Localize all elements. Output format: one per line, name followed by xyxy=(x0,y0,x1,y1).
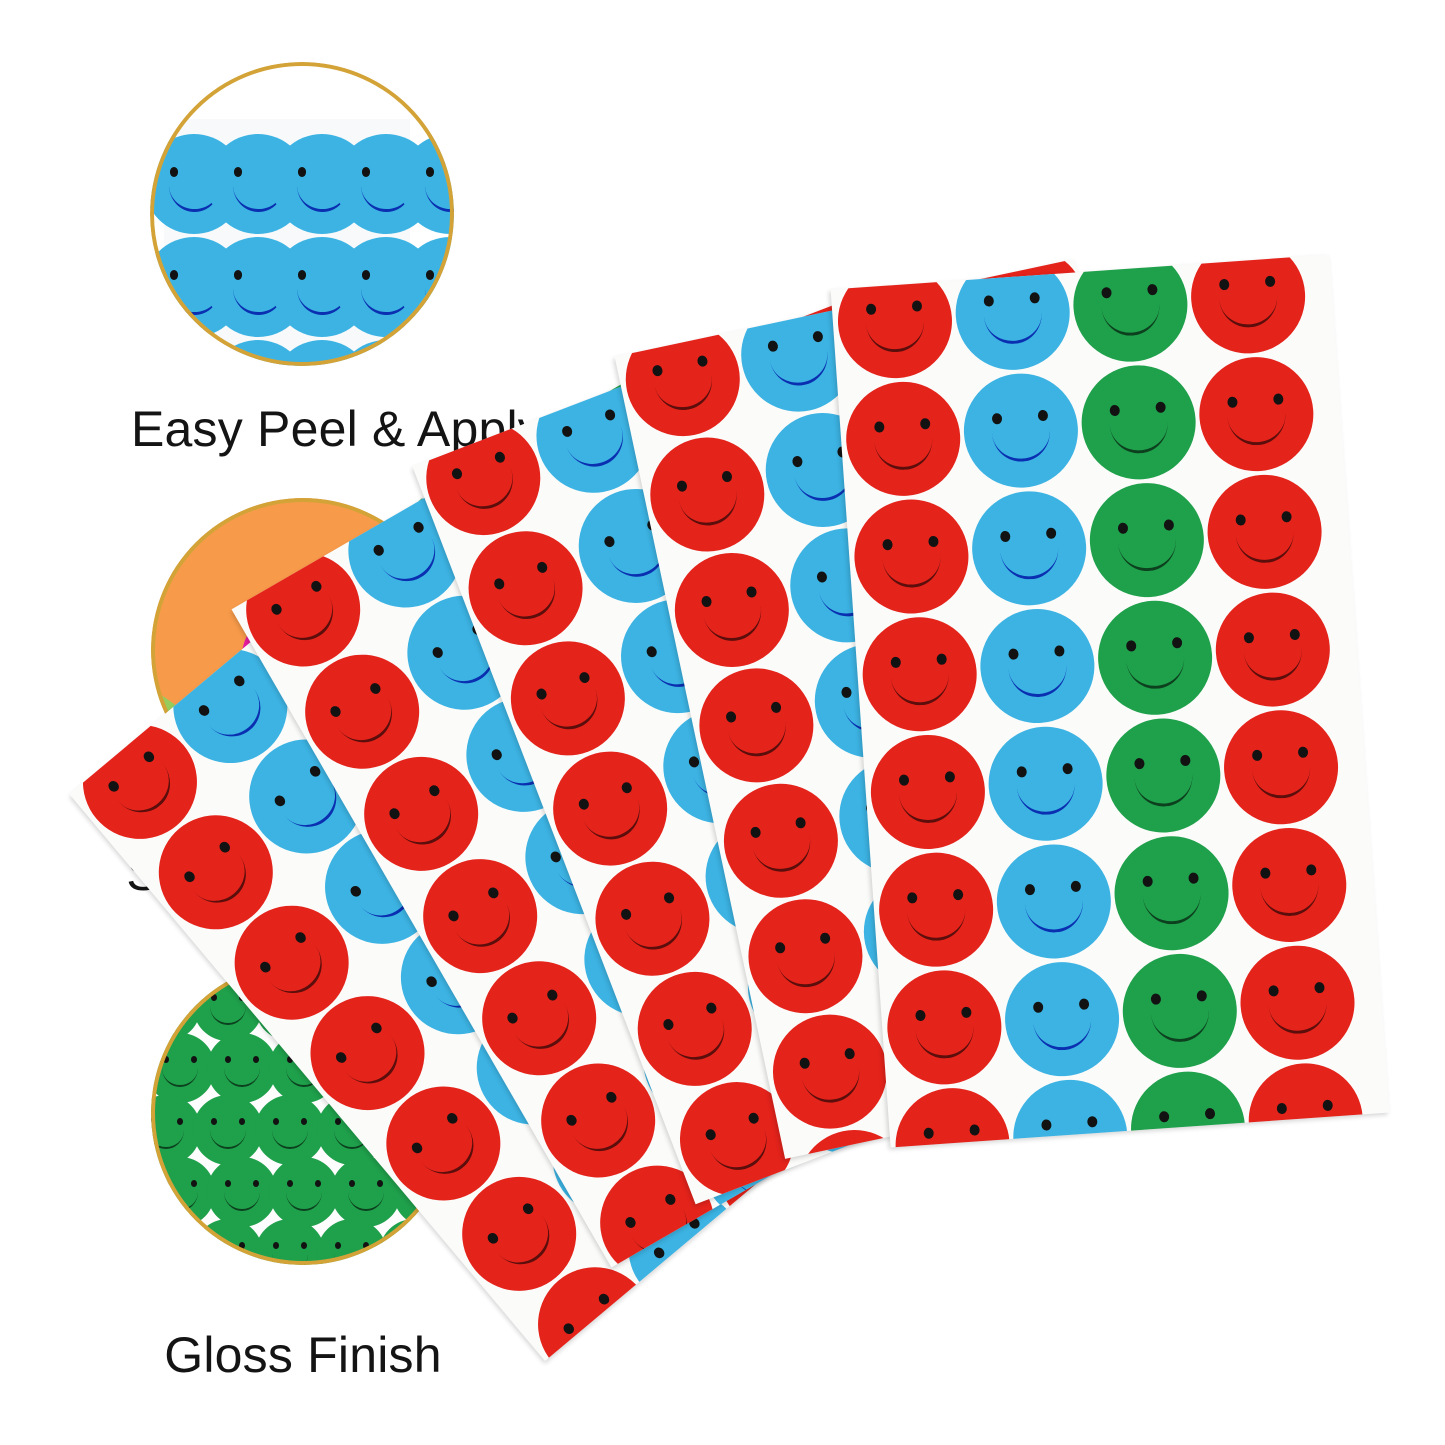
smiley-mouth xyxy=(581,794,648,848)
smiley-eye xyxy=(969,1124,980,1136)
smiley-eye xyxy=(794,816,806,829)
smiley-sticker xyxy=(842,378,964,500)
smiley-mouth xyxy=(539,684,606,738)
smiley-sticker xyxy=(977,605,1099,727)
smiley-eye xyxy=(493,577,506,591)
smiley-sticker xyxy=(859,613,981,735)
smiley-eye xyxy=(676,479,688,492)
smiley-eye xyxy=(857,1195,870,1204)
smiley-sticker xyxy=(1070,255,1192,366)
smiley-eye xyxy=(1277,1102,1288,1114)
smiley-mouth xyxy=(1000,542,1060,582)
smiley-eye xyxy=(177,994,183,1001)
smiley-mouth xyxy=(1260,878,1320,918)
smiley-sticker xyxy=(1187,255,1309,358)
smiley-eye xyxy=(767,339,779,352)
smiley-mouth xyxy=(1109,416,1169,456)
smiley-eye xyxy=(1289,628,1300,640)
smiley-eye xyxy=(623,1215,637,1230)
smiley-mouth xyxy=(861,1192,928,1204)
smiley-mouth xyxy=(660,1226,728,1291)
smiley-eye xyxy=(191,1056,197,1063)
smiley-eye xyxy=(1008,648,1019,660)
smiley-eye xyxy=(577,797,590,811)
smiley-eye xyxy=(1046,527,1057,539)
smiley-mouth xyxy=(151,1127,184,1149)
smiley-sticker-green xyxy=(193,1095,263,1165)
smiley-eye xyxy=(1155,401,1166,413)
smiley-eye xyxy=(287,1180,293,1187)
smiley-eye xyxy=(1029,292,1040,304)
smiley-eye xyxy=(774,941,786,954)
smiley-sticker xyxy=(1245,1060,1367,1148)
smiley-eye xyxy=(915,1009,926,1021)
smiley-eye xyxy=(234,270,243,280)
smiley-mouth xyxy=(769,344,833,391)
smiley-eye xyxy=(445,1111,460,1126)
smiley-eye xyxy=(984,295,995,307)
smiley-eye xyxy=(1078,998,1089,1010)
smiley-eye xyxy=(596,1292,611,1307)
smiley-sticker xyxy=(1220,706,1342,828)
smiley-eye xyxy=(899,1179,912,1193)
smiley-eye xyxy=(1070,880,1081,892)
smiley-eye xyxy=(163,1180,169,1187)
smiley-mouth xyxy=(899,785,959,825)
smiley-mouth xyxy=(1101,298,1161,338)
smiley-sticker xyxy=(1094,597,1216,719)
smiley-eye xyxy=(225,1056,231,1063)
smiley-eye xyxy=(1204,1107,1215,1119)
smiley-mouth xyxy=(151,1003,184,1025)
smiley-mouth xyxy=(266,941,334,1006)
smiley-mouth xyxy=(1276,1114,1336,1148)
smiley-eye xyxy=(1142,875,1153,887)
smiley-mouth xyxy=(512,1000,580,1060)
smiley-mouth xyxy=(1252,761,1312,801)
smiley-eye xyxy=(816,570,828,583)
smiley-mouth xyxy=(874,432,934,472)
smiley-eye xyxy=(1196,990,1207,1002)
smiley-mouth xyxy=(882,550,942,590)
smiley-mouth xyxy=(396,1251,432,1265)
smiley-eye xyxy=(1151,993,1162,1005)
smiley-eye xyxy=(561,1321,576,1336)
smiley-eye xyxy=(923,1127,934,1139)
smiley-mouth xyxy=(1243,643,1303,683)
smiley-mouth xyxy=(1134,769,1194,809)
smiley-mouth xyxy=(1118,534,1178,574)
smiley-eye xyxy=(368,681,382,696)
smiley-mouth xyxy=(866,315,926,355)
smiley-eye xyxy=(1219,278,1230,290)
smiley-eye xyxy=(578,670,591,684)
smiley-mouth xyxy=(624,904,691,958)
smiley-eye xyxy=(197,703,212,718)
sticker-grid xyxy=(831,255,1390,1148)
smiley-eye xyxy=(1017,766,1028,778)
smiley-mouth xyxy=(342,1031,410,1096)
smiley-eye xyxy=(882,538,893,550)
smiley-sticker xyxy=(875,849,997,971)
fanned-sticker-sheets xyxy=(430,140,1445,1380)
smiley-eye xyxy=(1033,1001,1044,1013)
smiley-eye xyxy=(1134,757,1145,769)
smiley-mouth xyxy=(272,1251,308,1265)
smiley-eye xyxy=(272,793,287,808)
smiley-eye xyxy=(701,595,713,608)
smiley-eye xyxy=(232,673,247,688)
smiley-eye xyxy=(843,1047,855,1060)
smiley-eye xyxy=(750,826,762,839)
smiley-mouth xyxy=(702,599,766,646)
smiley-eye xyxy=(369,1020,384,1035)
smiley-eye xyxy=(662,1017,675,1031)
infographic-canvas: Easy Peel & Apply Strong Adhesive Gloss … xyxy=(0,0,1445,1445)
smiley-eye xyxy=(1235,514,1246,526)
smiley-eye xyxy=(819,931,831,944)
smiley-mouth xyxy=(272,1127,308,1149)
smiley-eye xyxy=(1244,631,1255,643)
smiley-eye xyxy=(170,167,179,177)
smiley-sticker xyxy=(993,841,1115,963)
smiley-sticker xyxy=(1237,942,1359,1064)
smiley-eye xyxy=(704,1127,717,1141)
smiley-mouth xyxy=(210,1251,246,1265)
smiley-eye xyxy=(535,560,548,574)
smiley-eye xyxy=(328,704,342,719)
smiley-sticker xyxy=(640,427,775,562)
smiley-mouth xyxy=(923,1139,983,1148)
smiley-eye xyxy=(1314,981,1325,993)
smiley-eye xyxy=(273,1118,279,1125)
smiley-mouth xyxy=(565,421,632,475)
smiley-eye xyxy=(211,994,217,1001)
smiley-eye xyxy=(431,645,445,660)
smiley-eye xyxy=(486,885,500,900)
smiley-eye xyxy=(307,764,322,779)
smiley-eye xyxy=(936,653,947,665)
smiley-eye xyxy=(363,1242,369,1249)
smiley-eye xyxy=(335,1242,341,1249)
smiley-sticker xyxy=(1127,1068,1249,1148)
smiley-sticker xyxy=(738,889,873,1024)
smiley-sticker xyxy=(1119,950,1241,1072)
smiley-eye xyxy=(967,1153,980,1167)
smiley-mouth xyxy=(224,1189,260,1211)
smiley-eye xyxy=(953,888,964,900)
smiley-eye xyxy=(234,167,243,177)
smiley-eye xyxy=(269,602,283,617)
smiley-eye xyxy=(891,656,902,668)
smiley-mouth xyxy=(1126,651,1186,691)
smiley-eye xyxy=(293,930,308,945)
smiley-eye xyxy=(545,988,559,1003)
smiley-sticker xyxy=(1196,353,1318,475)
smiley-sticker xyxy=(689,658,824,793)
smiley-eye xyxy=(424,974,439,989)
smiley-mouth xyxy=(162,1065,198,1087)
smiley-eye xyxy=(182,869,197,884)
smiley-eye xyxy=(315,1180,321,1187)
smiley-mouth xyxy=(752,830,816,877)
smiley-eye xyxy=(992,413,1003,425)
smiley-sticker xyxy=(1001,958,1123,1080)
smiley-eye xyxy=(620,780,633,794)
smiley-mouth xyxy=(335,693,403,753)
feature-icon-easy-peel xyxy=(150,62,454,366)
smiley-sticker xyxy=(762,1004,897,1139)
smiley-mouth xyxy=(1041,1130,1101,1147)
smiley-mouth xyxy=(276,591,344,651)
smiley-eye xyxy=(151,1242,155,1249)
smiley-eye xyxy=(652,364,664,377)
smiley-eye xyxy=(747,1111,760,1125)
smiley-mouth xyxy=(210,1127,246,1149)
smiley-eye xyxy=(273,1242,279,1249)
smiley-mouth xyxy=(115,760,183,825)
smiley-mouth xyxy=(286,1189,322,1211)
smiley-eye xyxy=(652,1245,667,1260)
smiley-eye xyxy=(298,167,307,177)
smiley-mouth xyxy=(907,903,967,943)
smiley-eye xyxy=(1037,409,1048,421)
smiley-eye xyxy=(1188,872,1199,884)
smiley-eye xyxy=(309,579,323,594)
smiley-eye xyxy=(1297,746,1308,758)
smiley-sticker xyxy=(1212,589,1334,711)
smiley-mouth xyxy=(1033,1013,1093,1053)
smiley-eye xyxy=(663,1192,677,1207)
smiley-mouth xyxy=(1025,895,1085,935)
smiley-eye xyxy=(411,520,425,535)
smiley-mouth xyxy=(494,1212,562,1277)
smiley-eye xyxy=(1101,287,1112,299)
smiley-sticker-green xyxy=(207,1033,277,1103)
smiley-mouth xyxy=(224,1065,260,1087)
smiley-mouth xyxy=(205,684,273,749)
smiley-eye xyxy=(603,534,616,548)
smiley-eye xyxy=(427,783,441,798)
smiley-eye xyxy=(866,303,877,315)
blue-smiley-sheet-photo xyxy=(150,62,454,366)
smiley-sticker xyxy=(1228,824,1350,946)
smiley-eye xyxy=(725,710,737,723)
smiley-eye xyxy=(1054,645,1065,657)
smiley-eye xyxy=(1118,522,1129,534)
smiley-sticker xyxy=(1102,715,1224,837)
smiley-sticker xyxy=(892,1084,1014,1147)
smiley-eye xyxy=(662,891,675,905)
smiley-eye xyxy=(505,1010,519,1025)
smiley-eye xyxy=(217,840,232,855)
smiley-eye xyxy=(1180,754,1191,766)
smiley-eye xyxy=(770,701,782,714)
smiley-mouth xyxy=(1219,290,1279,330)
smiley-eye xyxy=(874,421,885,433)
smiley-mouth xyxy=(162,1189,198,1211)
smiley-eye xyxy=(564,1113,578,1128)
smiley-mouth xyxy=(708,1124,775,1178)
smiley-eye xyxy=(920,418,931,430)
smiley-eye xyxy=(812,330,824,343)
smiley-sticker xyxy=(664,542,799,677)
smiley-eye xyxy=(1227,396,1238,408)
smiley-eye xyxy=(1306,864,1317,876)
smiley-eye xyxy=(603,408,616,422)
smiley-mouth xyxy=(151,1251,184,1265)
smiley-eye xyxy=(791,455,803,468)
smiley-mouth xyxy=(394,795,462,855)
smiley-eye xyxy=(410,1140,425,1155)
smiley-mouth xyxy=(191,850,259,915)
smiley-eye xyxy=(349,1180,355,1187)
smiley-eye xyxy=(493,450,506,464)
smiley-eye xyxy=(1087,1116,1098,1128)
smiley-eye xyxy=(1260,867,1271,879)
sticker-sheet-5 xyxy=(831,255,1390,1148)
smiley-eye xyxy=(939,1147,951,1159)
smiley-sticker xyxy=(968,487,1090,609)
smiley-sticker xyxy=(1009,1076,1131,1147)
smiley-eye xyxy=(1322,1099,1333,1111)
smiley-eye xyxy=(1265,275,1276,287)
smiley-eye xyxy=(907,892,918,904)
smiley-mouth xyxy=(1235,525,1295,565)
smiley-mouth xyxy=(348,1189,384,1211)
smiley-eye xyxy=(1000,530,1011,542)
smiley-eye xyxy=(301,1118,307,1125)
smiley-mouth xyxy=(1142,887,1202,927)
smiley-mouth xyxy=(210,1003,246,1025)
smiley-eye xyxy=(928,535,939,547)
smiley-eye xyxy=(520,1201,535,1216)
smiley-eye xyxy=(106,778,121,793)
smiley-eye xyxy=(362,167,371,177)
smiley-eye xyxy=(1252,749,1263,761)
smiley-mouth xyxy=(992,424,1052,464)
smiley-mouth xyxy=(454,463,521,517)
smiley-eye xyxy=(253,1056,259,1063)
smiley-eye xyxy=(348,883,363,898)
smiley-eye xyxy=(163,1056,169,1063)
smiley-eye xyxy=(334,1050,349,1065)
smiley-eye xyxy=(362,270,371,280)
smiley-eye xyxy=(177,1118,183,1125)
smiley-mouth xyxy=(453,898,521,958)
smiley-mouth xyxy=(570,1302,638,1361)
smiley-eye xyxy=(211,1118,217,1125)
smiley-eye xyxy=(446,908,460,923)
smiley-eye xyxy=(561,424,574,438)
smiley-eye xyxy=(1041,1119,1052,1131)
smiley-mouth xyxy=(801,1061,865,1108)
smiley-mouth xyxy=(971,1150,1038,1204)
smiley-eye xyxy=(604,1090,618,1105)
smiley-mouth xyxy=(1227,408,1287,448)
smiley-eye xyxy=(535,687,548,701)
smiley-mouth xyxy=(666,1014,733,1068)
smiley-eye xyxy=(1062,762,1073,774)
smiley-sticker xyxy=(851,496,973,618)
smiley-eye xyxy=(645,644,658,658)
smiley-eye xyxy=(1281,511,1292,523)
smiley-mouth xyxy=(1008,659,1068,699)
smiley-eye xyxy=(177,1242,183,1249)
smiley-eye xyxy=(721,470,733,483)
smiley-eye xyxy=(397,1242,403,1249)
smiley-mouth xyxy=(983,306,1043,346)
smiley-eye xyxy=(841,686,853,699)
smiley-eye xyxy=(1025,883,1036,895)
smiley-sticker xyxy=(1078,362,1200,484)
smiley-eye xyxy=(258,959,273,974)
smiley-eye xyxy=(745,585,757,598)
smiley-mouth xyxy=(653,369,717,416)
smiley-mouth xyxy=(776,946,840,993)
smiley-eye xyxy=(1273,393,1284,405)
smiley-sticker-green xyxy=(207,1157,277,1227)
smiley-mouth xyxy=(334,1251,370,1265)
smiley-eye xyxy=(944,771,955,783)
smiley-mouth xyxy=(1016,777,1076,817)
smiley-eye xyxy=(225,1180,231,1187)
smiley-eye xyxy=(704,1001,717,1015)
smiley-eye xyxy=(1126,640,1137,652)
smiley-sticker xyxy=(867,731,989,853)
smiley-mouth xyxy=(1150,1004,1210,1044)
smiley-mouth xyxy=(378,532,446,592)
smiley-eye xyxy=(1171,637,1182,649)
smiley-eye xyxy=(799,1056,811,1069)
smiley-sticker xyxy=(834,260,956,382)
smiley-eye xyxy=(301,1242,307,1249)
smiley-eye xyxy=(151,994,155,1001)
smiley-sticker xyxy=(985,723,1107,845)
smiley-eye xyxy=(377,1180,383,1187)
smiley-eye xyxy=(1268,985,1279,997)
smiley-mouth xyxy=(915,1021,975,1061)
smiley-sticker-green xyxy=(269,1157,339,1227)
smiley-eye xyxy=(899,774,910,786)
smiley-eye xyxy=(298,270,307,280)
smiley-sticker xyxy=(960,370,1082,492)
smiley-mouth xyxy=(941,1152,1005,1159)
smiley-mouth xyxy=(571,1102,639,1162)
smiley-mouth xyxy=(678,484,742,531)
smiley-eye xyxy=(151,1118,155,1125)
smiley-sticker xyxy=(1204,471,1326,593)
smiley-sticker xyxy=(713,773,848,908)
smiley-sticker xyxy=(615,311,750,446)
smiley-eye xyxy=(490,747,504,762)
smiley-sticker xyxy=(1111,832,1233,954)
smiley-eye xyxy=(141,749,156,764)
smiley-eye xyxy=(335,1118,341,1125)
smiley-eye xyxy=(450,466,463,480)
smiley-mouth xyxy=(418,1121,486,1186)
smiley-mouth xyxy=(1159,1122,1219,1147)
smiley-eye xyxy=(170,270,179,280)
smiley-eye xyxy=(239,1118,245,1125)
smiley-mouth xyxy=(890,668,950,708)
smiley-eye xyxy=(485,1230,500,1245)
smiley-eye xyxy=(239,1242,245,1249)
smiley-eye xyxy=(620,907,633,921)
smiley-eye xyxy=(191,1180,197,1187)
smiley-eye xyxy=(1147,283,1158,295)
smiley-sticker xyxy=(1086,479,1208,601)
